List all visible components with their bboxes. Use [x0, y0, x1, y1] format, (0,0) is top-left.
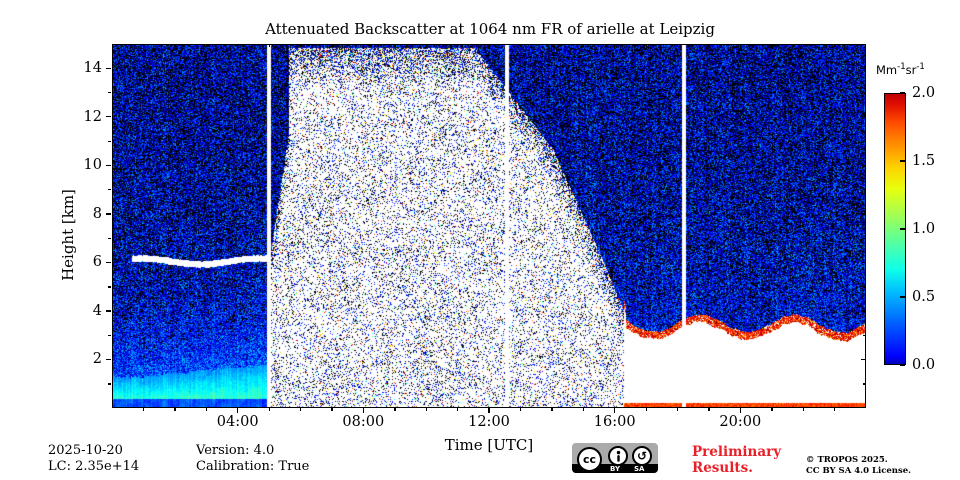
- x-tick-top-minor: [803, 44, 804, 47]
- x-tick-minor: [174, 408, 175, 411]
- footer-calibration: Calibration: True: [196, 459, 309, 474]
- x-tick-major: [488, 408, 489, 413]
- y-tick-label: 8: [0, 206, 102, 222]
- y-tick-right-major: [861, 68, 866, 69]
- y-tick-right-minor: [863, 189, 866, 190]
- preliminary-line-2: Results.: [692, 460, 781, 476]
- colorbar-tick: [900, 92, 905, 93]
- y-tick-minor: [108, 189, 111, 190]
- colorbar-units-exp2: -1: [916, 62, 924, 72]
- y-tick-right-major: [861, 116, 866, 117]
- y-tick-label: 6: [0, 254, 102, 270]
- plot-axes: [112, 44, 866, 408]
- x-tick-top-major: [488, 44, 489, 49]
- copyright-line-2: CC BY SA 4.0 License.: [806, 466, 911, 477]
- x-tick-minor: [708, 408, 709, 411]
- x-tick-top-minor: [269, 44, 270, 47]
- x-tick-minor: [394, 408, 395, 411]
- x-tick-minor: [269, 408, 270, 411]
- colorbar-tick-label: 0.0: [912, 357, 935, 373]
- preliminary-line-1: Preliminary: [692, 444, 781, 460]
- colorbar-units-mm: Mm: [876, 63, 897, 77]
- y-axis-title: Height [km]: [59, 135, 77, 335]
- y-tick-minor: [108, 141, 111, 142]
- x-tick-top-minor: [174, 44, 175, 47]
- x-tick-top-minor: [677, 44, 678, 47]
- x-tick-minor: [426, 408, 427, 411]
- footer-version: Version: 4.0: [196, 443, 274, 458]
- cc-by-person-icon: [608, 446, 628, 466]
- y-tick-major: [106, 213, 111, 214]
- y-tick-minor: [108, 238, 111, 239]
- footer-lidar-constant: LC: 2.35e+14: [48, 459, 139, 474]
- y-tick-right-major: [861, 165, 866, 166]
- colorbar-tick: [900, 364, 905, 365]
- x-tick-minor: [457, 408, 458, 411]
- x-tick-top-minor: [708, 44, 709, 47]
- x-tick-major: [740, 408, 741, 413]
- y-tick-right-major: [861, 262, 866, 263]
- x-tick-top-major: [363, 44, 364, 49]
- cc-logo-icon: cc: [577, 447, 602, 472]
- x-tick-label: 04:00: [217, 414, 259, 430]
- y-tick-right-minor: [863, 383, 866, 384]
- y-tick-label: 10: [0, 157, 102, 173]
- y-tick-right-minor: [863, 335, 866, 336]
- x-tick-top-minor: [331, 44, 332, 47]
- y-tick-minor: [108, 286, 111, 287]
- y-tick-right-major: [861, 359, 866, 360]
- backscatter-heatmap: [113, 45, 866, 408]
- y-tick-major: [106, 165, 111, 166]
- y-tick-label: 12: [0, 109, 102, 125]
- x-tick-minor: [771, 408, 772, 411]
- cc-sa-label: SA: [634, 465, 644, 473]
- x-tick-top-minor: [426, 44, 427, 47]
- x-tick-minor: [300, 408, 301, 411]
- y-tick-label: 14: [0, 60, 102, 76]
- y-tick-minor: [108, 383, 111, 384]
- colorbar-tick-label: 1.0: [912, 221, 935, 237]
- colorbar-tick: [900, 296, 905, 297]
- colorbar-tick-label: 0.5: [912, 289, 935, 305]
- x-tick-minor: [206, 408, 207, 411]
- colorbar-units-exp1: -1: [897, 62, 905, 72]
- x-tick-top-minor: [551, 44, 552, 47]
- colorbar-tick: [900, 160, 905, 161]
- x-tick-top-minor: [771, 44, 772, 47]
- cc-by-label: BY: [610, 465, 620, 473]
- colorbar-tick-label: 2.0: [912, 85, 935, 101]
- x-tick-top-minor: [206, 44, 207, 47]
- x-tick-top-minor: [457, 44, 458, 47]
- x-tick-minor: [143, 408, 144, 411]
- y-tick-minor: [108, 92, 111, 93]
- x-tick-major: [237, 408, 238, 413]
- y-tick-label: 4: [0, 303, 102, 319]
- x-tick-top-minor: [300, 44, 301, 47]
- x-tick-top-major: [740, 44, 741, 49]
- x-tick-minor: [834, 408, 835, 411]
- x-tick-minor: [583, 408, 584, 411]
- x-tick-minor: [331, 408, 332, 411]
- x-tick-label: 20:00: [719, 414, 761, 430]
- y-tick-major: [106, 68, 111, 69]
- x-tick-minor: [677, 408, 678, 411]
- preliminary-results-note: Preliminary Results.: [692, 444, 781, 476]
- lidar-quicklook-figure: Attenuated Backscatter at 1064 nm FR of …: [0, 0, 960, 480]
- colorbar-units-sr: sr: [906, 63, 917, 77]
- page-title: Attenuated Backscatter at 1064 nm FR of …: [112, 20, 868, 38]
- y-tick-right-major: [861, 213, 866, 214]
- x-tick-top-major: [614, 44, 615, 49]
- copyright-note: © TROPOS 2025. CC BY SA 4.0 License.: [806, 455, 911, 477]
- x-tick-major: [614, 408, 615, 413]
- footer-date: 2025-10-20: [48, 443, 123, 458]
- colorbar-tick-label: 1.5: [912, 153, 935, 169]
- cc-sa-arrow-icon: ↺: [632, 446, 652, 466]
- x-tick-label: 12:00: [468, 414, 510, 430]
- colorbar-tick: [900, 228, 905, 229]
- y-tick-right-major: [861, 310, 866, 311]
- copyright-line-1: © TROPOS 2025.: [806, 455, 911, 466]
- y-tick-right-minor: [863, 92, 866, 93]
- person-glyph: [613, 450, 624, 463]
- x-tick-minor: [551, 408, 552, 411]
- y-tick-major: [106, 359, 111, 360]
- x-tick-major: [363, 408, 364, 413]
- x-tick-label: 16:00: [594, 414, 636, 430]
- x-tick-top-major: [237, 44, 238, 49]
- x-tick-label: 08:00: [342, 414, 384, 430]
- y-tick-right-minor: [863, 286, 866, 287]
- y-tick-major: [106, 116, 111, 117]
- x-tick-top-minor: [583, 44, 584, 47]
- x-tick-top-minor: [834, 44, 835, 47]
- x-tick-minor: [520, 408, 521, 411]
- colorbar-units: Mm-1sr-1: [876, 62, 925, 77]
- y-tick-label: 2: [0, 351, 102, 367]
- y-tick-right-minor: [863, 141, 866, 142]
- x-tick-top-minor: [143, 44, 144, 47]
- x-tick-top-minor: [520, 44, 521, 47]
- x-tick-minor: [646, 408, 647, 411]
- y-tick-major: [106, 310, 111, 311]
- x-tick-top-minor: [394, 44, 395, 47]
- x-tick-minor: [803, 408, 804, 411]
- y-tick-major: [106, 262, 111, 263]
- x-tick-top-minor: [646, 44, 647, 47]
- y-tick-minor: [108, 335, 111, 336]
- y-tick-right-minor: [863, 238, 866, 239]
- creative-commons-badge: cc ↺ BY SA: [572, 443, 658, 473]
